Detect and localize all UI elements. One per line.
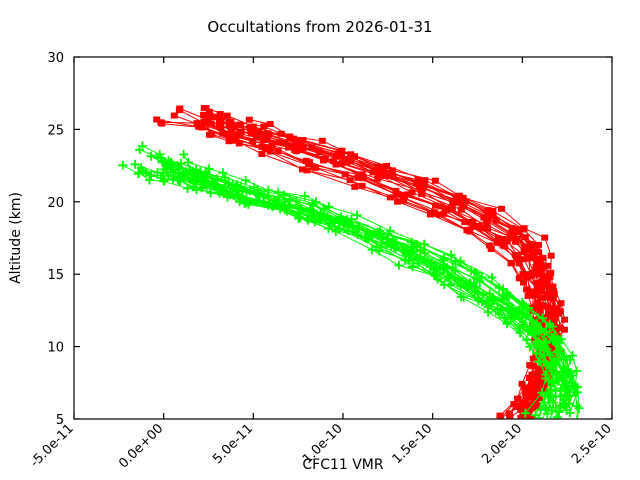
marker-square [351, 184, 358, 190]
marker-square [438, 204, 445, 210]
x-tick-label: -5.0e-11 [28, 421, 77, 470]
x-axis-label: CFC11 VMR [302, 457, 384, 473]
data-series-red-profile-1 [176, 106, 547, 422]
marker-square [258, 144, 265, 150]
marker-square [278, 131, 285, 137]
marker-square [347, 177, 354, 183]
marker-plus [575, 404, 584, 413]
marker-square [232, 138, 239, 144]
marker-plus [555, 419, 564, 428]
data-series-red-profile-6 [216, 115, 559, 410]
series-line [179, 110, 550, 415]
marker-square [390, 174, 397, 180]
marker-square [543, 295, 550, 301]
marker-square [520, 400, 527, 406]
marker-plus [118, 161, 127, 170]
marker-square [541, 235, 548, 241]
data-series-green-profile-8 [162, 161, 577, 415]
marker-square [258, 151, 265, 157]
y-tick-label: 20 [47, 196, 64, 211]
marker-square [523, 390, 530, 396]
marker-square [267, 121, 274, 127]
marker-square [526, 362, 533, 368]
marker-square [534, 300, 541, 306]
marker-square [558, 300, 565, 306]
marker-plus [572, 419, 581, 428]
marker-square [342, 171, 349, 177]
series-group [118, 105, 583, 428]
marker-square [548, 253, 555, 259]
marker-square [387, 194, 394, 200]
marker-square [304, 167, 311, 173]
data-series-green-profile-4 [169, 165, 582, 417]
data-series-green-profile-8 [169, 174, 582, 425]
x-tick-label: 0.0e+00 [116, 421, 166, 471]
data-series-red-profile-3 [206, 109, 556, 409]
series-line [174, 170, 578, 413]
series-line [166, 165, 572, 410]
marker-square [523, 271, 530, 277]
marker-square [546, 284, 553, 290]
data-series-green-profile-7 [118, 161, 550, 418]
marker-plus [179, 150, 188, 159]
series-line [213, 117, 555, 408]
series-line [204, 108, 556, 409]
data-series-green-profile-4 [163, 161, 572, 409]
marker-square [255, 128, 262, 134]
marker-plus [572, 367, 581, 376]
series-line [167, 166, 567, 405]
y-tick-label: 25 [47, 123, 64, 138]
marker-square [236, 122, 243, 128]
marker-square [392, 188, 399, 194]
marker-square [430, 210, 437, 216]
marker-square [535, 256, 542, 262]
y-tick-label: 30 [47, 51, 64, 66]
marker-square [153, 117, 160, 123]
marker-square [377, 164, 384, 170]
series-line [219, 118, 555, 407]
marker-square [281, 140, 288, 146]
marker-square [493, 240, 500, 246]
marker-square [419, 190, 426, 196]
x-tick-label: 1.5e-10 [390, 421, 436, 467]
data-series-red-profile-1 [176, 107, 554, 418]
marker-square [526, 375, 533, 381]
y-axis-label: Altitude (km) [8, 192, 24, 284]
marker-square [460, 202, 467, 208]
series-line [174, 116, 535, 424]
marker-square [485, 207, 492, 213]
series-line [208, 117, 559, 411]
x-tick-label: 2.0e-10 [479, 421, 525, 467]
marker-square [217, 121, 224, 127]
marker-square [319, 138, 326, 144]
marker-square [455, 195, 462, 201]
marker-square [303, 158, 310, 164]
marker-square [176, 106, 183, 112]
marker-square [208, 132, 215, 138]
marker-square [519, 381, 526, 387]
plot-area: -5.0e-110.0e+005.0e-111.0e-101.5e-102.0e… [0, 0, 640, 480]
chart-canvas: Occultations from 2026-01-31 -5.0e-110.0… [0, 0, 640, 480]
marker-square [534, 280, 541, 286]
marker-square [308, 144, 315, 150]
series-line [135, 164, 556, 409]
marker-square [492, 420, 499, 426]
marker-square [513, 404, 520, 410]
marker-square [228, 129, 235, 135]
data-series-red-profile-2 [200, 112, 556, 421]
marker-square [171, 113, 178, 119]
x-tick-label: 2.5e-10 [569, 421, 615, 467]
marker-square [486, 243, 493, 249]
marker-square [201, 120, 208, 126]
marker-square [461, 219, 468, 225]
data-series-green-profile-6 [166, 167, 579, 410]
marker-square [521, 225, 528, 231]
marker-plus [353, 211, 362, 220]
marker-square [541, 273, 548, 279]
marker-square [415, 181, 422, 187]
marker-square [208, 121, 215, 127]
marker-square [195, 124, 202, 130]
data-series-red-profile-4 [158, 121, 551, 421]
marker-square [547, 270, 554, 276]
y-tick-label: 15 [47, 268, 64, 283]
data-series-green-profile-6 [162, 164, 569, 407]
marker-square [561, 327, 568, 333]
series-line [171, 172, 575, 406]
data-series-red-profile-5 [210, 114, 559, 411]
marker-square [432, 203, 439, 209]
marker-plus [300, 192, 309, 201]
marker-square [466, 229, 473, 235]
series-line [180, 109, 544, 419]
marker-square [561, 317, 568, 323]
marker-square [338, 152, 345, 158]
series-line [204, 115, 553, 418]
marker-square [526, 241, 533, 247]
series-line [167, 168, 565, 402]
series-line [166, 164, 567, 412]
x-tick-label: 5.0e-11 [210, 421, 256, 467]
data-series-red-profile-7 [201, 112, 546, 419]
data-series-green-profile-5 [137, 163, 561, 427]
series-line [169, 166, 573, 397]
marker-square [484, 225, 491, 231]
marker-plus [394, 261, 403, 270]
series-line [204, 115, 542, 416]
marker-square [552, 305, 559, 311]
marker-square [498, 206, 505, 212]
marker-square [520, 280, 527, 286]
y-tick-label: 10 [47, 341, 64, 356]
series-line [250, 128, 565, 406]
marker-square [246, 117, 253, 123]
marker-square [201, 112, 208, 118]
marker-square [509, 225, 516, 231]
marker-square [525, 293, 532, 299]
y-tick-label: 5 [56, 413, 64, 428]
marker-square [508, 260, 515, 266]
marker-square [264, 136, 271, 142]
marker-square [432, 178, 439, 184]
